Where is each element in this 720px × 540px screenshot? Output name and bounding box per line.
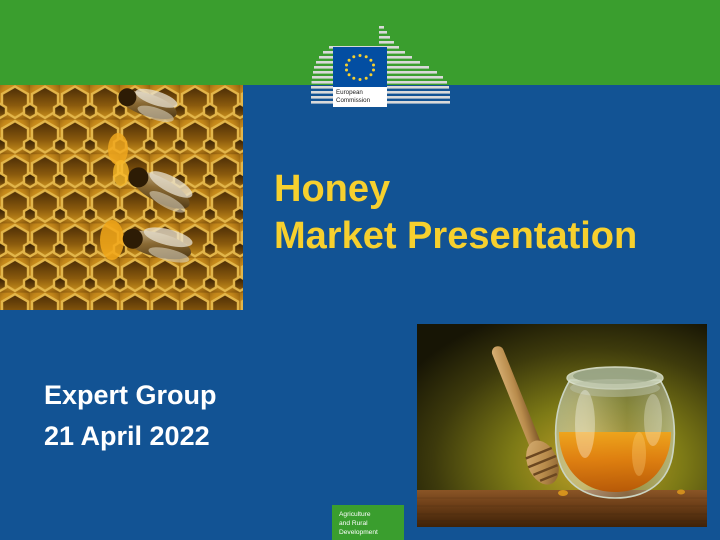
- honey-jar: [556, 367, 675, 498]
- title-line-2: Market Presentation: [274, 213, 704, 260]
- presentation-slide: European Commission Honey Market Present…: [0, 0, 720, 540]
- eu-flag-box: European Commission: [333, 47, 387, 107]
- ec-caption: European Commission: [333, 87, 387, 107]
- subtitle-line-2: 21 April 2022: [44, 416, 364, 457]
- honey-jar-image: [417, 324, 707, 527]
- honeycomb-illustration: [0, 85, 243, 310]
- subtitle-line-1: Expert Group: [44, 375, 364, 416]
- honey-jar-illustration: [417, 324, 707, 527]
- agriculture-rural-development-logo: Agriculture and Rural Development: [332, 505, 404, 540]
- slide-subtitle: Expert Group 21 April 2022: [44, 375, 364, 457]
- european-commission-logo: European Commission: [293, 24, 463, 110]
- dg-logo-text: Agriculture and Rural Development: [339, 510, 378, 537]
- ec-caption-line1: European: [336, 89, 387, 97]
- ec-flag-wave-right-icon: [379, 24, 463, 110]
- title-line-1: Honey: [274, 166, 704, 213]
- slide-title: Honey Market Presentation: [274, 166, 704, 260]
- ec-caption-line2: Commission: [336, 97, 387, 105]
- eu-stars-icon: [333, 47, 387, 87]
- honeycomb-image: [0, 85, 243, 310]
